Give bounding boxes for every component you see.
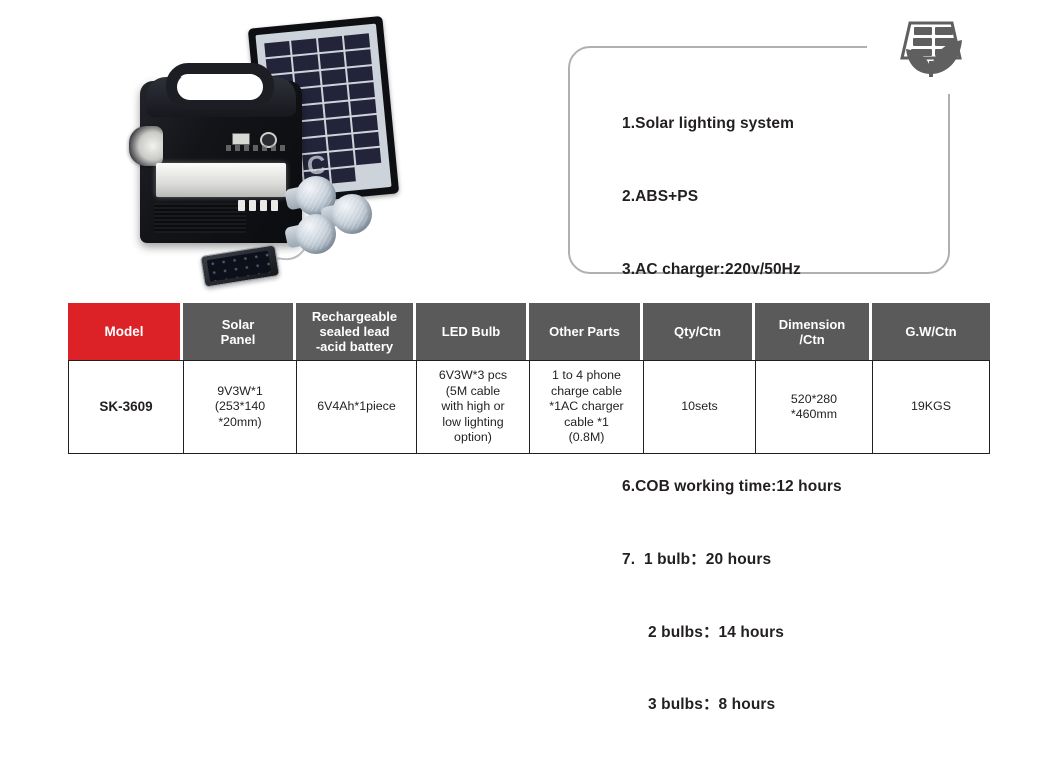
- cell-other-parts: 1 to 4 phone charge cable *1AC charger c…: [529, 360, 643, 454]
- col-header-battery: Rechargeable sealed lead -acid battery: [296, 303, 416, 360]
- feature-subitem: 3 bulbs：8 hours: [622, 693, 938, 717]
- feature-item: 6.COB working time:12 hours: [622, 475, 938, 499]
- features-callout: 1.Solar lighting system 2.ABS+PS 3.AC ch…: [568, 46, 950, 274]
- led-bulb-photo: [286, 214, 336, 260]
- usb-port-icon: [232, 133, 250, 145]
- col-header-solar-panel: Solar Panel: [183, 303, 296, 360]
- cell-gw-ctn: 19KGS: [872, 360, 990, 454]
- feature-item: 3.AC charger:220v/50Hz: [622, 258, 938, 282]
- feature-item: 1.Solar lighting system: [622, 112, 938, 136]
- col-header-other-parts: Other Parts: [529, 303, 643, 360]
- port-label-text: [226, 145, 288, 151]
- col-header-qty-ctn: Qty/Ctn: [643, 303, 755, 360]
- table-row: SK-3609 9V3W*1 (253*140 *20mm) 6V4Ah*1pi…: [68, 360, 990, 454]
- product-photo: CC: [110, 8, 440, 293]
- cell-dimension-ctn: 520*280 *460mm: [755, 360, 872, 454]
- cell-led-bulb: 6V3W*3 pcs (5M cable with high or low li…: [416, 360, 529, 454]
- cell-qty-ctn: 10sets: [643, 360, 755, 454]
- control-unit-photo: [140, 63, 302, 243]
- cell-battery: 6V4Ah*1piece: [296, 360, 416, 454]
- battery-indicator-leds: [238, 200, 282, 211]
- product-spec-sheet: CC: [0, 0, 1056, 487]
- port-panel: [226, 129, 288, 153]
- col-header-led-bulb: LED Bulb: [416, 303, 529, 360]
- smartphone-photo: [200, 244, 280, 287]
- specification-table: Model Solar Panel Rechargeable sealed le…: [68, 303, 990, 454]
- col-header-model: Model: [68, 303, 183, 360]
- bulb-globe: [296, 214, 336, 254]
- feature-item: 7. 1 bulb：20 hours: [622, 548, 938, 572]
- cell-model: SK-3609: [68, 360, 183, 454]
- feature-subitem: 2 bulbs：14 hours: [622, 621, 938, 645]
- table-header-row: Model Solar Panel Rechargeable sealed le…: [68, 303, 990, 360]
- carry-handle-hole: [177, 74, 263, 100]
- bulb-globe: [332, 194, 372, 234]
- flashlight-lens: [129, 126, 163, 166]
- smartphone-screen: [207, 250, 272, 281]
- speaker-grille: [154, 203, 246, 233]
- cob-light-strip: [156, 163, 286, 197]
- feature-item: 2.ABS+PS: [622, 185, 938, 209]
- col-header-gw-ctn: G.W/Ctn: [872, 303, 990, 360]
- cell-solar-panel: 9V3W*1 (253*140 *20mm): [183, 360, 296, 454]
- col-header-dimension-ctn: Dimension /Ctn: [755, 303, 872, 360]
- solar-panel-leaf-eco-icon: [896, 18, 966, 80]
